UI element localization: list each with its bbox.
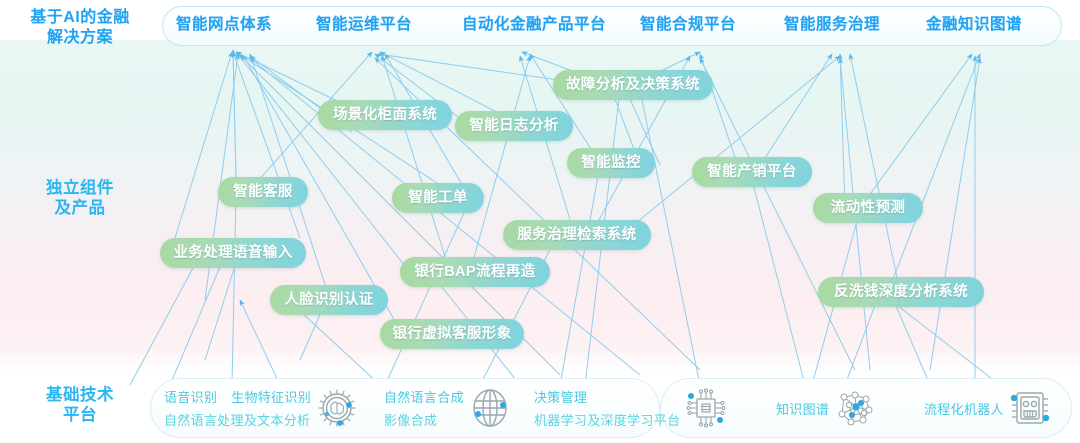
- component-pill[interactable]: 银行BAP流程再造: [400, 257, 550, 287]
- foundation-tech-label[interactable]: 生物特征识别: [231, 387, 311, 406]
- chip-icon: [680, 382, 732, 434]
- component-pill[interactable]: 故障分析及决策系统: [553, 70, 713, 100]
- top-solution-6[interactable]: 金融知识图谱: [926, 12, 1022, 34]
- knowledge-graph-icon: [829, 382, 881, 434]
- component-pill[interactable]: 人脸识别认证: [270, 285, 388, 315]
- foundation-card-row: 自然语言合成: [384, 387, 464, 406]
- foundation-card-row: 机器学习及深度学习平台: [534, 410, 680, 429]
- foundation-tech-label[interactable]: 流程化机器人: [924, 399, 1004, 418]
- foundation-tech-card[interactable]: 自然语言合成影像合成: [370, 378, 510, 438]
- axis-label-components-line1: 独立组件: [0, 178, 160, 198]
- top-solution-1[interactable]: 智能网点体系: [176, 12, 272, 34]
- component-pill[interactable]: 智能监控: [567, 148, 655, 178]
- axis-label-solutions-line1: 基于AI的金融: [0, 8, 160, 28]
- axis-label-platform: 基础技术 平台: [0, 385, 160, 425]
- component-pill[interactable]: 场景化柜面系统: [318, 100, 452, 130]
- foundation-tech-card[interactable]: 语音识别生物特征识别自然语言处理及文本分析: [150, 378, 365, 438]
- foundation-card-texts: 语音识别生物特征识别自然语言处理及文本分析: [150, 387, 311, 429]
- component-pill[interactable]: 反洗钱深度分析系统: [818, 277, 984, 307]
- foundation-tech-card[interactable]: 决策管理机器学习及深度学习平台: [520, 378, 720, 438]
- top-solution-5[interactable]: 智能服务治理: [784, 12, 880, 34]
- component-pill[interactable]: 业务处理语音输入: [160, 238, 306, 268]
- top-solution-3[interactable]: 自动化金融产品平台: [462, 12, 606, 34]
- foundation-card-row: 语音识别生物特征识别: [164, 387, 311, 406]
- robot-icon: [1004, 382, 1056, 434]
- component-pill[interactable]: 流动性预测: [813, 193, 923, 223]
- axis-label-platform-line1: 基础技术: [0, 385, 160, 405]
- foundation-card-texts: 决策管理机器学习及深度学习平台: [520, 387, 680, 429]
- component-pill[interactable]: 银行虚拟客服形象: [380, 319, 524, 349]
- foundation-card-row: 决策管理: [534, 387, 680, 406]
- foundation-tech-label[interactable]: 知识图谱: [776, 399, 829, 418]
- foundation-card-row: 流程化机器人: [924, 399, 1004, 418]
- foundation-tech-label[interactable]: 机器学习及深度学习平台: [534, 410, 680, 429]
- axis-label-components: 独立组件 及产品: [0, 178, 160, 218]
- globe-icon: [464, 382, 516, 434]
- foundation-tech-label[interactable]: 决策管理: [534, 387, 587, 406]
- axis-label-platform-line2: 平台: [0, 405, 160, 425]
- foundation-tech-card[interactable]: 流程化机器人: [910, 378, 1060, 438]
- axis-label-components-line2: 及产品: [0, 198, 160, 218]
- component-pill[interactable]: 智能日志分析: [455, 111, 573, 141]
- foundation-card-row: 自然语言处理及文本分析: [164, 410, 311, 429]
- foundation-tech-label[interactable]: 语音识别: [164, 387, 217, 406]
- foundation-card-row: 影像合成: [384, 410, 464, 429]
- foundation-card-row: 知识图谱: [776, 399, 829, 418]
- component-pill[interactable]: 智能工单: [392, 183, 484, 213]
- component-pill[interactable]: 服务治理检索系统: [503, 220, 651, 250]
- foundation-card-texts: 知识图谱: [762, 399, 829, 418]
- brain-gear-icon: [311, 382, 363, 434]
- foundation-card-texts: 自然语言合成影像合成: [370, 387, 464, 429]
- axis-label-solutions: 基于AI的金融 解决方案: [0, 8, 160, 47]
- top-solution-2[interactable]: 智能运维平台: [316, 12, 412, 34]
- foundation-tech-label[interactable]: 自然语言处理及文本分析: [164, 410, 310, 429]
- axis-label-solutions-line2: 解决方案: [0, 28, 160, 48]
- component-pill[interactable]: 智能客服: [218, 177, 308, 207]
- foundation-card-texts: 流程化机器人: [910, 399, 1004, 418]
- foundation-tech-card[interactable]: 知识图谱: [762, 378, 902, 438]
- foundation-tech-label[interactable]: 自然语言合成: [384, 387, 464, 406]
- foundation-tech-label[interactable]: 影像合成: [384, 410, 437, 429]
- top-solution-4[interactable]: 智能合规平台: [640, 12, 736, 34]
- component-pill[interactable]: 智能产销平台: [692, 157, 812, 187]
- ai-finance-architecture-diagram: 智能网点体系智能运维平台自动化金融产品平台智能合规平台智能服务治理金融知识图谱 …: [0, 0, 1080, 443]
